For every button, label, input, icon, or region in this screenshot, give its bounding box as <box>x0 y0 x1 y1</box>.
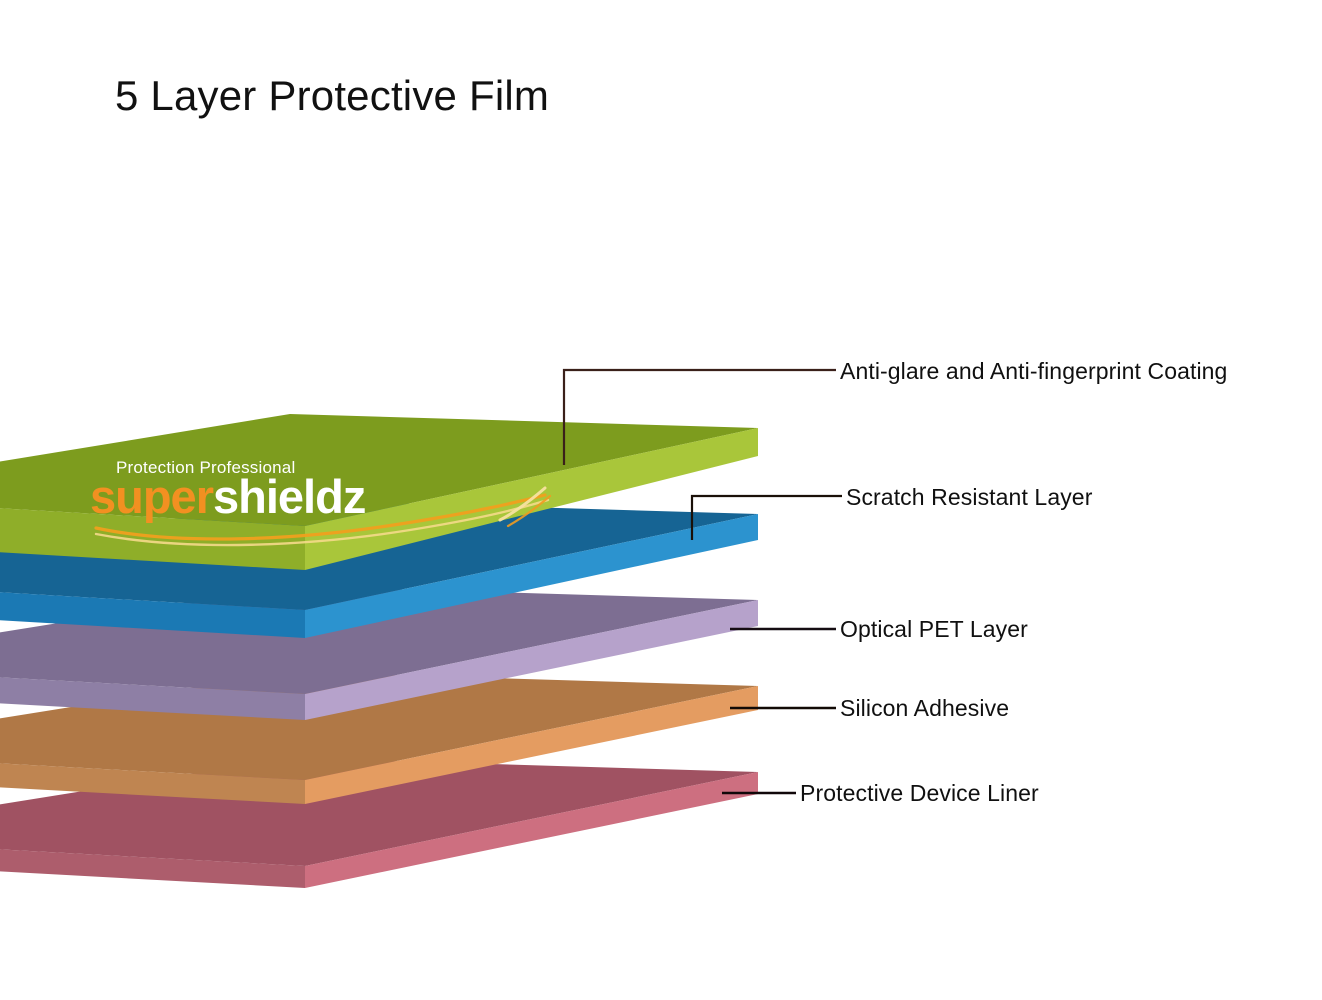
brand-wordmark-part2: shieldz <box>213 470 365 523</box>
layer-label-protective-device-liner: Protective Device Liner <box>800 780 1039 807</box>
diagram-canvas: 5 Layer Protective Film <box>0 0 1322 1000</box>
brand-wordmark-part1: super <box>90 470 213 523</box>
brand-wordmark: supershieldz <box>90 473 365 520</box>
layer-label-silicon-adhesive: Silicon Adhesive <box>840 695 1009 722</box>
layer-label-anti-glare: Anti-glare and Anti-fingerprint Coating <box>840 358 1227 385</box>
layer-label-scratch-resistant: Scratch Resistant Layer <box>846 484 1092 511</box>
layer-label-optical-pet: Optical PET Layer <box>840 616 1028 643</box>
